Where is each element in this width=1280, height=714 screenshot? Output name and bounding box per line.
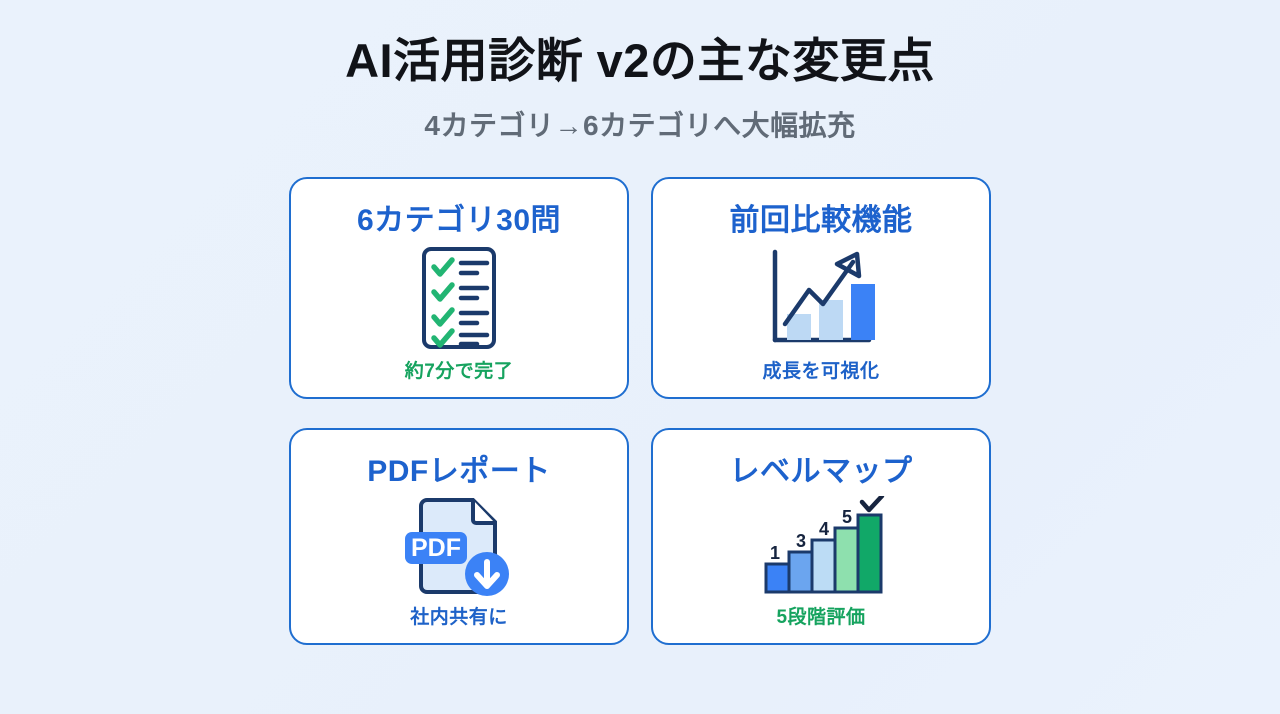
- checklist-icon: [411, 239, 507, 356]
- page-title: AI活用診断 v2の主な変更点: [345, 34, 935, 88]
- card-title: 前回比較機能: [730, 195, 913, 239]
- pdf-download-icon: PDF: [403, 490, 515, 602]
- card-caption: 約7分で完了: [405, 356, 514, 383]
- feature-card-categories[interactable]: 6カテゴリ30問: [289, 177, 629, 399]
- card-caption: 5段階評価: [776, 602, 865, 629]
- pdf-badge-label: PDF: [411, 534, 461, 562]
- card-title: PDFレポート: [367, 446, 551, 490]
- level-map-icon: 1 3 4 5: [756, 490, 886, 602]
- card-title: 6カテゴリ30問: [357, 195, 561, 239]
- bar-label-3: 3: [796, 531, 806, 551]
- feature-card-grid: 6カテゴリ30問: [289, 177, 991, 645]
- page-subtitle: 4カテゴリ→6カテゴリへ大幅拡充: [345, 104, 935, 144]
- bar-label-5: 5: [842, 507, 852, 527]
- check-icon: [862, 496, 882, 510]
- card-caption: 社内共有に: [410, 602, 508, 629]
- feature-card-comparison[interactable]: 前回比較機能 成長を可視化: [651, 177, 991, 399]
- feature-card-level-map[interactable]: レベルマップ 1 3 4 5: [651, 428, 991, 645]
- slide-header: AI活用診断 v2の主な変更点 4カテゴリ→6カテゴリへ大幅拡充: [345, 34, 935, 144]
- bar-label-1: 1: [770, 543, 780, 563]
- feature-card-pdf-report[interactable]: PDFレポート PDF 社内共有に: [289, 428, 629, 645]
- card-caption: 成長を可視化: [762, 356, 879, 383]
- card-title: レベルマップ: [730, 446, 913, 490]
- bar-label-4: 4: [819, 519, 829, 539]
- growth-chart-icon: [765, 239, 877, 356]
- slide-root: AI活用診断 v2の主な変更点 4カテゴリ→6カテゴリへ大幅拡充 6カテゴリ30…: [0, 0, 1280, 714]
